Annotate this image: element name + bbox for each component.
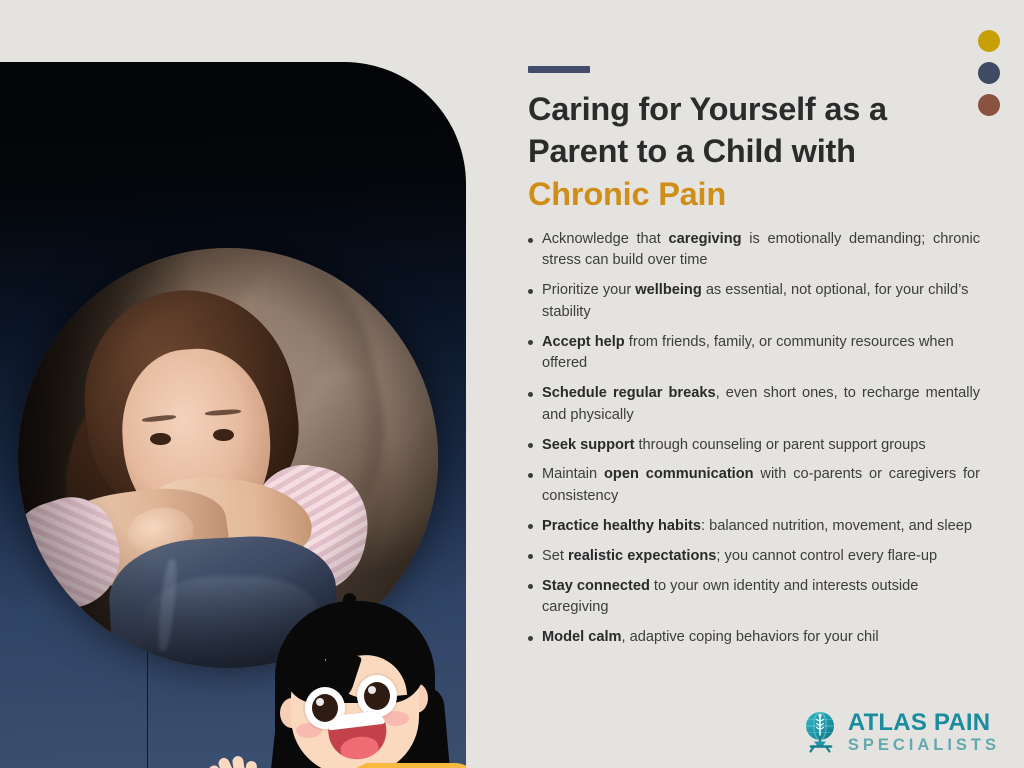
- bullet-marker-icon: [528, 636, 533, 641]
- title-accent-rule: [528, 66, 590, 73]
- bullet-item: Model calm, adaptive coping behaviors fo…: [528, 627, 980, 648]
- bullet-marker-icon: [528, 289, 533, 294]
- cartoon-collar: [365, 763, 407, 768]
- bullet-marker-icon: [528, 473, 533, 478]
- atlas-pain-specialists-logo[interactable]: ATLAS PAIN SPECIALISTS: [801, 710, 1000, 754]
- title-line-1: Caring for Yourself as a: [528, 88, 988, 130]
- bullet-marker-icon: [528, 392, 533, 397]
- bullet-marker-icon: [528, 584, 533, 589]
- dot-brown-icon: [978, 94, 1000, 116]
- left-visual-panel: [0, 62, 466, 768]
- cartoon-pupil-right: [364, 682, 390, 710]
- cartoon-girl-illustration: [201, 595, 466, 768]
- bullet-item: Acknowledge that caregiving is emotional…: [528, 229, 980, 272]
- bullet-text: Practice healthy habits: balanced nutrit…: [542, 516, 980, 537]
- logo-wordmark: ATLAS PAIN SPECIALISTS: [848, 711, 1000, 754]
- tips-bullet-list: Acknowledge that caregiving is emotional…: [528, 229, 980, 657]
- cartoon-eye-gleam-left: [316, 698, 324, 706]
- bullet-marker-icon: [528, 443, 533, 448]
- bullet-text: Set realistic expectations; you cannot c…: [542, 546, 980, 567]
- bullet-item: Stay connected to your own identity and …: [528, 576, 980, 619]
- bullet-item: Set realistic expectations; you cannot c…: [528, 546, 980, 567]
- dot-gold-icon: [978, 30, 1000, 52]
- atlas-globe-caduceus-icon: [801, 710, 841, 754]
- content-panel: Caring for Yourself as a Parent to a Chi…: [466, 0, 1024, 768]
- bullet-text: Acknowledge that caregiving is emotional…: [542, 229, 980, 272]
- bullet-item: Maintain open communication with co-pare…: [528, 464, 980, 507]
- bullet-marker-icon: [528, 554, 533, 559]
- page-title: Caring for Yourself as a Parent to a Chi…: [528, 88, 988, 215]
- bullet-item: Prioritize your wellbeing as essential, …: [528, 280, 980, 323]
- logo-line-2: SPECIALISTS: [848, 737, 1000, 754]
- cartoon-eye-gleam-right: [368, 686, 376, 694]
- bullet-item: Accept help from friends, family, or com…: [528, 332, 980, 375]
- bullet-item: Practice healthy habits: balanced nutrit…: [528, 516, 980, 537]
- bullet-text: Model calm, adaptive coping behaviors fo…: [542, 627, 980, 648]
- bullet-text: Maintain open communication with co-pare…: [542, 464, 980, 507]
- bullet-text: Accept help from friends, family, or com…: [542, 332, 980, 375]
- bullet-item: Seek support through counseling or paren…: [528, 435, 980, 456]
- cartoon-finger-4: [244, 761, 258, 768]
- bullet-text: Seek support through counseling or paren…: [542, 435, 980, 456]
- bullet-marker-icon: [528, 340, 533, 345]
- title-accent-line: Chronic Pain: [528, 173, 988, 215]
- slide-canvas: Caring for Yourself as a Parent to a Chi…: [0, 0, 1024, 768]
- bullet-marker-icon: [528, 524, 533, 529]
- bullet-text: Stay connected to your own identity and …: [542, 576, 980, 619]
- bullet-text: Schedule regular breaks, even short ones…: [542, 383, 980, 426]
- bullet-text: Prioritize your wellbeing as essential, …: [542, 280, 980, 323]
- bullet-marker-icon: [528, 238, 533, 243]
- dot-navy-icon: [978, 62, 1000, 84]
- decorative-dot-stack: [978, 30, 1000, 116]
- bullet-item: Schedule regular breaks, even short ones…: [528, 383, 980, 426]
- logo-line-1: ATLAS PAIN: [848, 711, 1000, 735]
- title-line-2: Parent to a Child with: [528, 130, 988, 172]
